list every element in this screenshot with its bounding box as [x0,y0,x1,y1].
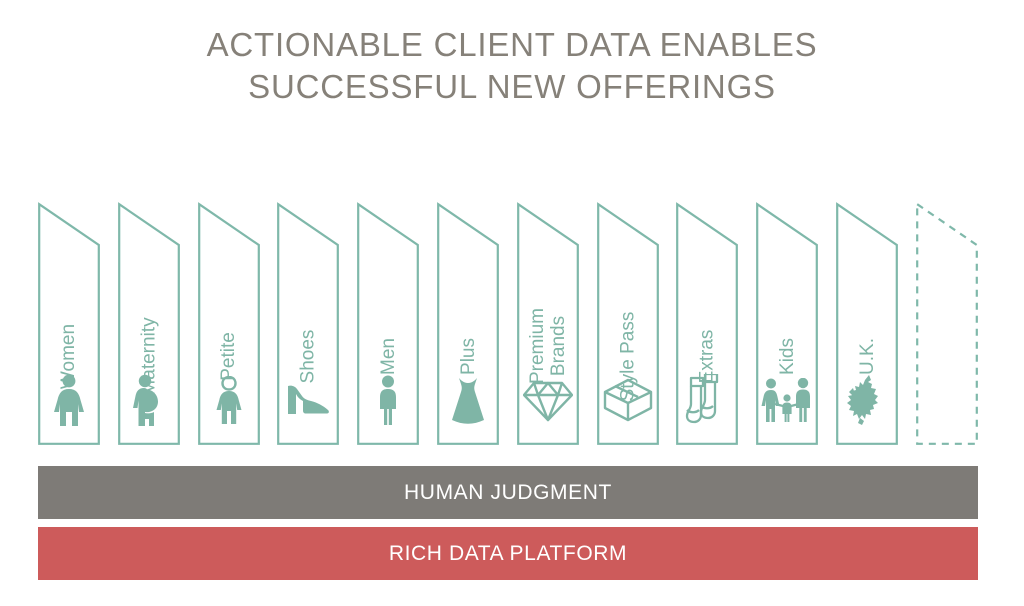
category-card-men[interactable]: Men [357,203,419,445]
woman-icon [38,369,100,431]
box-icon [597,369,659,431]
card-label: Maternity [118,247,180,367]
card-label: Plus [437,247,499,367]
family-icon [756,369,818,431]
card-label: Style Pass [597,247,659,367]
category-card-premium-brands[interactable]: Premium Brands [517,203,579,445]
petite-woman-icon [198,369,260,431]
rich-data-platform-bar: RICH DATA PLATFORM [38,527,978,580]
category-card-women[interactable]: Women [38,203,100,445]
human-judgment-bar: HUMAN JUDGMENT [38,466,978,519]
category-card-maternity[interactable]: Maternity [118,203,180,445]
title-line-1: ACTIONABLE CLIENT DATA ENABLES [0,24,1024,66]
category-card-extras[interactable]: Extras [676,203,738,445]
card-label: U.K. [836,247,898,367]
category-card-plus[interactable]: Plus [437,203,499,445]
card-label: Men [357,247,419,367]
card-label: Extras [676,247,738,367]
pregnant-woman-icon [118,369,180,431]
page-title: ACTIONABLE CLIENT DATA ENABLES SUCCESSFU… [0,24,1024,108]
human-judgment-label: HUMAN JUDGMENT [404,481,612,505]
dress-icon [437,369,499,431]
man-icon [357,369,419,431]
category-card-shoes[interactable]: Shoes [277,203,339,445]
category-card-placeholder[interactable] [916,203,978,445]
shoe-icon [277,369,339,431]
card-label: Shoes [277,247,339,367]
category-card-u-k[interactable]: U.K. [836,203,898,445]
card-label: Petite [198,247,260,367]
diamond-icon [517,369,579,431]
socks-icon [676,369,738,431]
card-label: Premium Brands [517,247,579,367]
category-card-kids[interactable]: Kids [756,203,818,445]
card-label: Kids [756,247,818,367]
category-card-petite[interactable]: Petite [198,203,260,445]
card-label: Women [38,247,100,367]
category-card-strip: Women Maternity Petite Shoes Men [38,203,978,445]
rich-data-platform-label: RICH DATA PLATFORM [389,542,627,566]
category-card-style-pass[interactable]: Style Pass [597,203,659,445]
uk-map-icon [836,369,898,431]
card-outline [916,203,978,445]
title-line-2: SUCCESSFUL NEW OFFERINGS [0,66,1024,108]
